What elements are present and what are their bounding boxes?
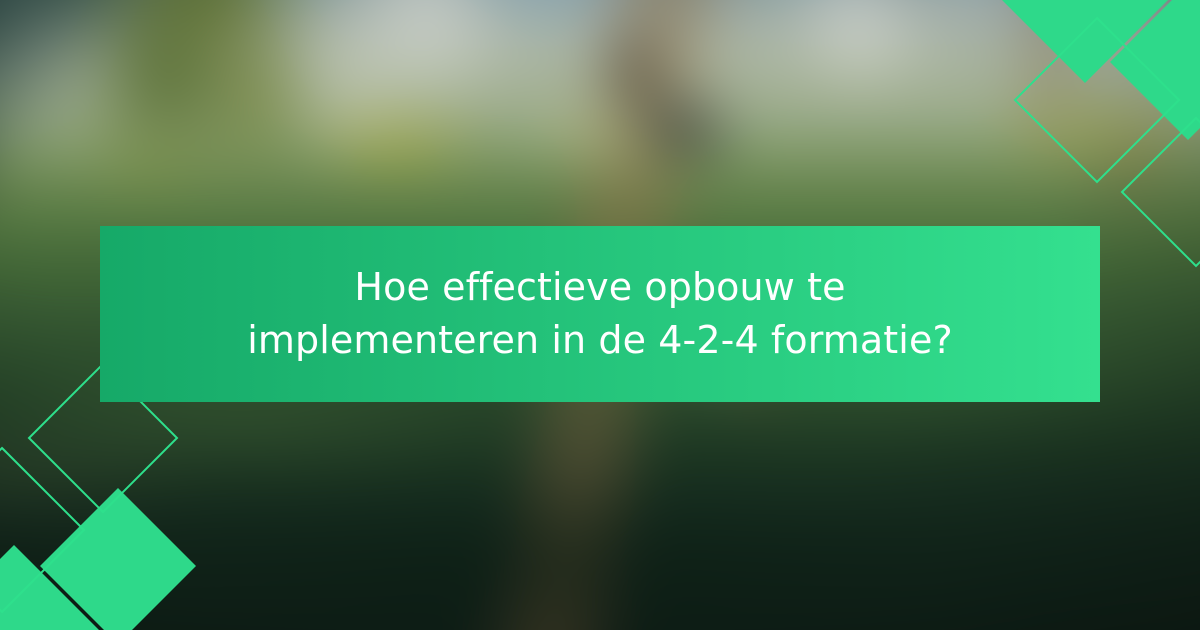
- headline-banner: Hoe effectieve opbouw te implementeren i…: [100, 226, 1100, 402]
- headline-text: Hoe effectieve opbouw te implementeren i…: [205, 261, 995, 367]
- social-card: Hoe effectieve opbouw te implementeren i…: [0, 0, 1200, 630]
